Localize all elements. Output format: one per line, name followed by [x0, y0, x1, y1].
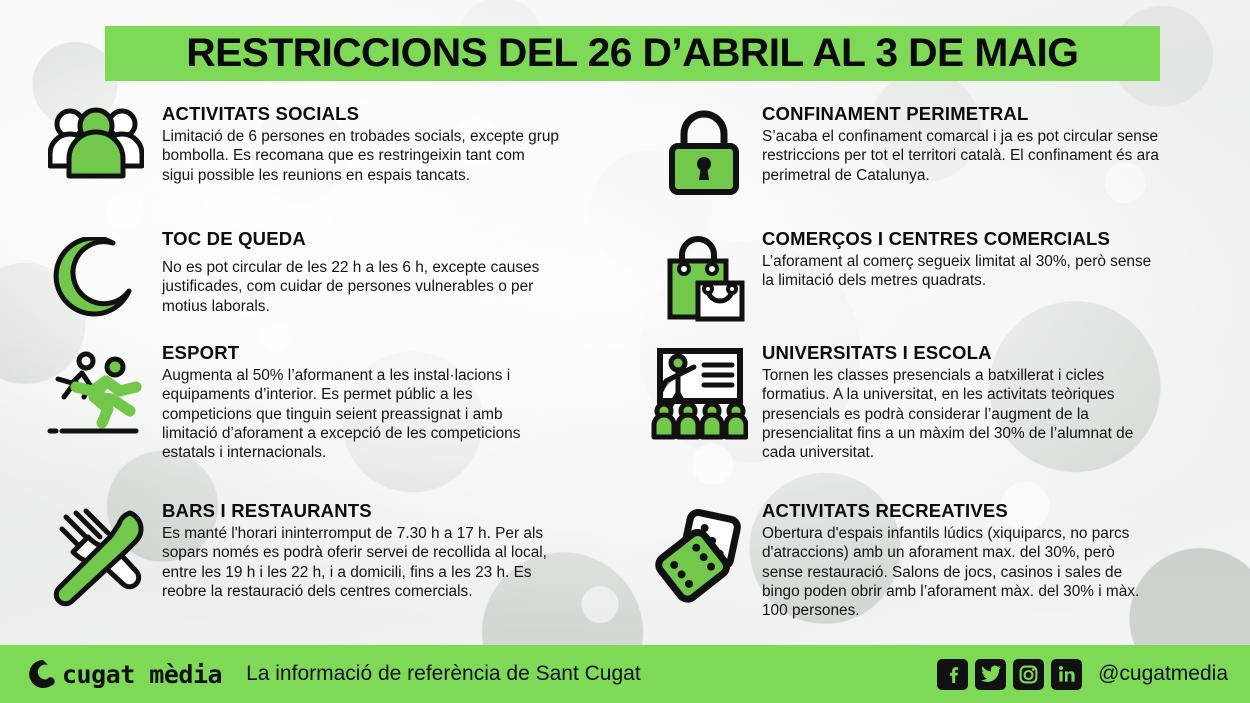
section-text: Obertura d'espais infantils lúdics (xiqu…	[762, 524, 1160, 619]
brand-tagline: La informació de referència de Sant Cuga…	[246, 662, 641, 686]
left-column: ACTIVITATS SOCIALS Limitació de 6 person…	[40, 104, 560, 631]
page-title: RESTRICCIONS DEL 26 D’ABRIL AL 3 DE MAIG	[186, 31, 1078, 76]
footer-bar: cugat mèdia La informació de referència …	[0, 645, 1250, 703]
group-people-icon	[40, 104, 152, 200]
section-confinament-perimetral: CONFINAMENT PERIMETRAL S’acaba el confin…	[640, 104, 1160, 224]
section-body: UNIVERSITATS I ESCOLA Tornen les classes…	[762, 343, 1160, 462]
brand-logo[interactable]: cugat mèdia	[26, 657, 222, 691]
section-text: Tornen les classes presencials a batxill…	[762, 366, 1160, 461]
section-title: BARS I RESTAURANTS	[162, 501, 560, 521]
fork-and-spoon-icon	[40, 507, 160, 603]
section-text: Es manté l'horari ininterromput de 7.30 …	[162, 524, 560, 600]
section-body: CONFINAMENT PERIMETRAL S’acaba el confin…	[762, 104, 1160, 185]
section-universitats-i-escola: UNIVERSITATS I ESCOLA Tornen les classes…	[640, 343, 1160, 493]
dice-icon	[642, 507, 754, 603]
section-body: ESPORT Augmenta al 50% l’aformanent a le…	[162, 343, 560, 462]
social-links: @cugatmedia	[930, 659, 1228, 690]
section-title: ESPORT	[162, 343, 560, 363]
section-body: COMERÇOS I CENTRES COMERCIALS L’aforamen…	[762, 229, 1160, 291]
section-title: TOC DE QUEDA	[162, 229, 560, 249]
linkedin-icon[interactable]	[1051, 659, 1082, 690]
section-activitats-socials: ACTIVITATS SOCIALS Limitació de 6 person…	[40, 104, 560, 224]
section-bars-i-restaurants: BARS I RESTAURANTS Es manté l'horari ini…	[40, 501, 560, 631]
section-title: ACTIVITATS RECREATIVES	[762, 501, 1160, 521]
section-body: BARS I RESTAURANTS Es manté l'horari ini…	[162, 501, 560, 601]
section-body: ACTIVITATS RECREATIVES Obertura d'espais…	[762, 501, 1160, 620]
section-body: TOC DE QUEDA No es pot circular de les 2…	[162, 229, 560, 316]
runners-icon	[40, 347, 160, 443]
section-title: UNIVERSITATS I ESCOLA	[762, 343, 1160, 363]
infographic-page: RESTRICCIONS DEL 26 D’ABRIL AL 3 DE MAIG	[0, 0, 1250, 703]
section-body: ACTIVITATS SOCIALS Limitació de 6 person…	[162, 104, 560, 185]
twitter-icon[interactable]	[975, 659, 1006, 690]
cugat-c-logo-icon	[26, 657, 60, 691]
section-title: COMERÇOS I CENTRES COMERCIALS	[762, 229, 1160, 249]
shopping-bags-icon	[648, 231, 760, 327]
padlock-icon	[648, 104, 760, 200]
section-text: L’aforament al comerç segueix limitat al…	[762, 252, 1160, 290]
brand-name: cugat mèdia	[62, 660, 222, 689]
crescent-moon-icon	[40, 237, 152, 333]
section-text: S’acaba el confinament comarcal i ja es …	[762, 127, 1160, 184]
section-text: Augmenta al 50% l’aformanent a les insta…	[162, 366, 560, 461]
section-esport: ESPORT Augmenta al 50% l’aformanent a le…	[40, 343, 560, 493]
instagram-icon[interactable]	[1013, 659, 1044, 690]
section-title: CONFINAMENT PERIMETRAL	[762, 104, 1160, 124]
section-text: Limitació de 6 persones en trobades soci…	[162, 127, 560, 184]
section-toc-de-queda: TOC DE QUEDA No es pot circular de les 2…	[40, 229, 560, 341]
right-column: CONFINAMENT PERIMETRAL S’acaba el confin…	[640, 104, 1160, 631]
section-text: No es pot circular de les 22 h a les 6 h…	[162, 258, 560, 315]
social-handle: @cugatmedia	[1098, 662, 1228, 686]
section-title: ACTIVITATS SOCIALS	[162, 104, 560, 124]
title-banner: RESTRICCIONS DEL 26 D’ABRIL AL 3 DE MAIG	[105, 26, 1160, 81]
section-activitats-recreatives: ACTIVITATS RECREATIVES Obertura d'espais…	[640, 501, 1160, 631]
classroom-presentation-icon	[642, 345, 754, 441]
section-comercos-i-centres-comercials: COMERÇOS I CENTRES COMERCIALS L’aforamen…	[640, 229, 1160, 341]
facebook-icon[interactable]	[937, 659, 968, 690]
